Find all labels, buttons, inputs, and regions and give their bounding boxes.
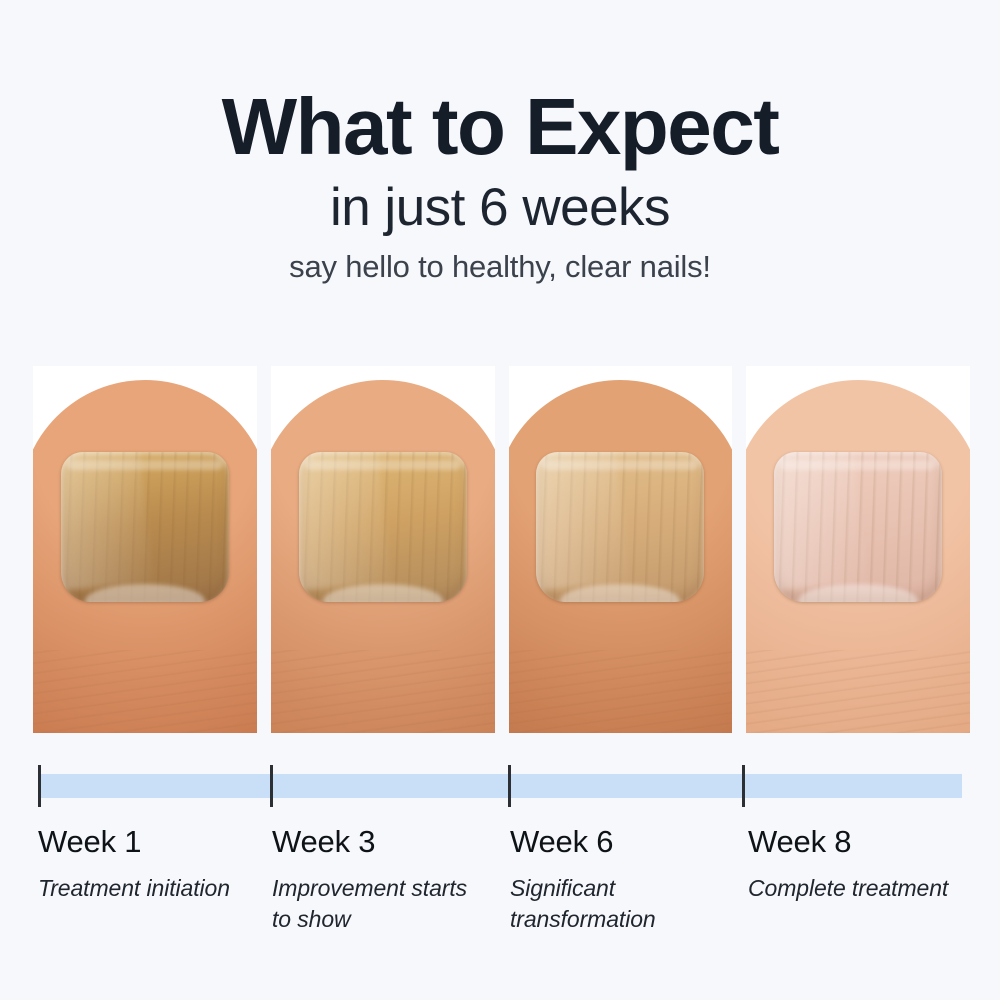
toe-illustration-week-1 (33, 380, 257, 733)
nail-week-8 (774, 452, 942, 602)
nail-shine-highlight (299, 452, 391, 592)
nail-week-6 (536, 452, 704, 602)
page-subtitle: in just 6 weeks (0, 168, 1000, 236)
timeline-labels: Week 1 Treatment initiation Week 3 Impro… (0, 824, 1000, 964)
timeline-tick-week-8 (742, 765, 745, 807)
week-description: Treatment initiation (38, 860, 258, 904)
header: What to Expect in just 6 weeks say hello… (0, 0, 1000, 284)
toe-illustration-week-6 (509, 380, 733, 733)
page-title: What to Expect (0, 0, 1000, 168)
progress-photo-strip (33, 366, 970, 733)
toe-illustration-week-3 (271, 380, 495, 733)
week-heading: Week 8 (748, 824, 968, 860)
timeline-tick-week-6 (508, 765, 511, 807)
timeline-label-week-1: Week 1 Treatment initiation (38, 824, 258, 904)
timeline-tick-week-1 (38, 765, 41, 807)
week-description: Significant transformation (510, 860, 730, 935)
nail-week-3 (299, 452, 467, 602)
timeline-label-week-8: Week 8 Complete treatment (748, 824, 968, 904)
timeline-tick-week-3 (270, 765, 273, 807)
photo-panel-week-8 (746, 366, 970, 733)
toe-illustration-week-8 (746, 380, 970, 733)
photo-panel-week-6 (509, 366, 733, 733)
page-tagline: say hello to healthy, clear nails! (0, 236, 1000, 284)
infographic-poster: What to Expect in just 6 weeks say hello… (0, 0, 1000, 1000)
week-heading: Week 3 (272, 824, 492, 860)
photo-panel-week-1 (33, 366, 257, 733)
timeline-label-week-3: Week 3 Improvement starts to show (272, 824, 492, 935)
timeline-label-week-6: Week 6 Significant transformation (510, 824, 730, 935)
nail-shine-highlight (774, 452, 866, 592)
nail-shine-highlight (61, 452, 153, 592)
week-description: Complete treatment (748, 860, 968, 904)
week-heading: Week 1 (38, 824, 258, 860)
week-heading: Week 6 (510, 824, 730, 860)
photo-panel-week-3 (271, 366, 495, 733)
nail-shine-highlight (536, 452, 628, 592)
nail-week-1 (61, 452, 229, 602)
timeline-bar (38, 774, 962, 798)
week-description: Improvement starts to show (272, 860, 492, 935)
